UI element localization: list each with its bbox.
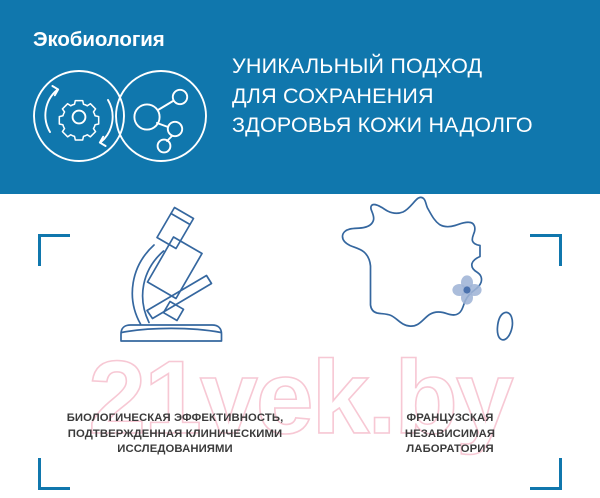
header-section: Экобиология [0, 0, 600, 194]
caption-line: НЕЗАВИСИМАЯ [330, 427, 570, 443]
brand-name: Экобиология [30, 28, 220, 52]
headline: УНИКАЛЬНЫЙ ПОДХОД ДЛЯ СОХРАНЕНИЯ ЗДОРОВЬ… [232, 52, 592, 141]
brand-block: Экобиология [30, 28, 220, 173]
caption-line: ИССЛЕДОВАНИЯМИ [30, 442, 320, 458]
ecobiology-infinity-gear-molecule-icon [27, 64, 213, 168]
body-section: 21vek.by [0, 194, 600, 498]
headline-line-1: УНИКАЛЬНЫЙ ПОДХОД [232, 52, 592, 82]
caption-line: ПОДТВЕРЖДЕННАЯ КЛИНИЧЕСКИМИ [30, 427, 320, 443]
microscope-icon [30, 194, 320, 359]
features-row: БИОЛОГИЧЕСКАЯ ЭФФЕКТИВНОСТЬ, ПОДТВЕРЖДЕН… [0, 194, 600, 498]
caption-line: ФРАНЦУЗСКАЯ [330, 411, 570, 427]
feature-clinical-efficacy: БИОЛОГИЧЕСКАЯ ЭФФЕКТИВНОСТЬ, ПОДТВЕРЖДЕН… [30, 194, 320, 458]
ecobiology-banner: Экобиология [0, 0, 600, 498]
caption-line: БИОЛОГИЧЕСКАЯ ЭФФЕКТИВНОСТЬ, [30, 411, 320, 427]
feature-french-lab: ФРАНЦУЗСКАЯ НЕЗАВИСИМАЯ ЛАБОРАТОРИЯ [330, 194, 570, 458]
france-map-icon [330, 194, 570, 359]
feature-lab-caption: ФРАНЦУЗСКАЯ НЕЗАВИСИМАЯ ЛАБОРАТОРИЯ [330, 359, 570, 458]
flower-marker-icon [452, 275, 482, 305]
headline-line-2: ДЛЯ СОХРАНЕНИЯ [232, 82, 592, 112]
headline-line-3: ЗДОРОВЬЯ КОЖИ НАДОЛГО [232, 111, 592, 141]
feature-clinical-caption: БИОЛОГИЧЕСКАЯ ЭФФЕКТИВНОСТЬ, ПОДТВЕРЖДЕН… [30, 359, 320, 458]
caption-line: ЛАБОРАТОРИЯ [330, 442, 570, 458]
